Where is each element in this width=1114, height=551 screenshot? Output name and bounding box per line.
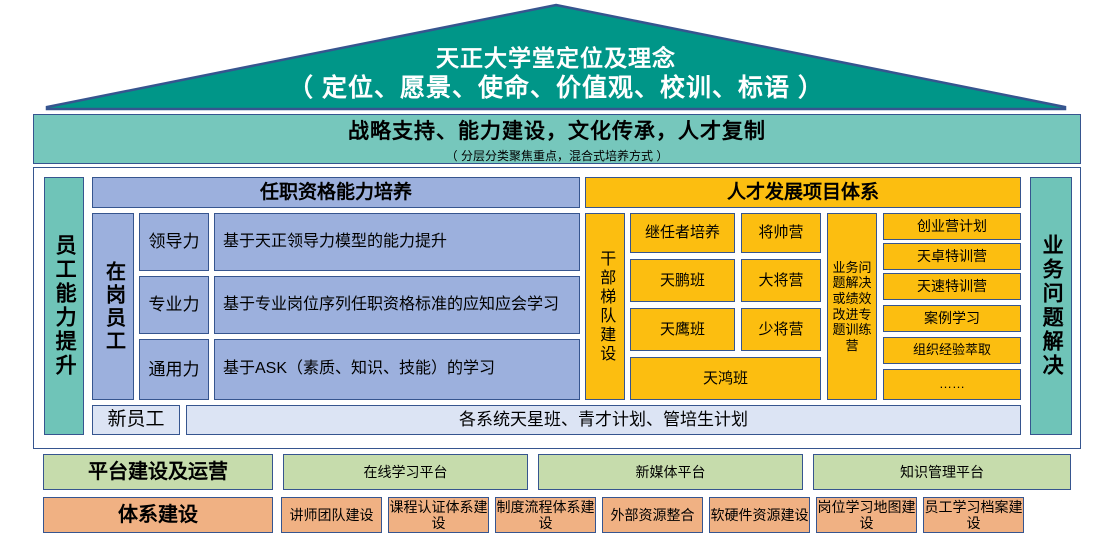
ability-desc-professional: 基于专业岗位序列任职资格标准的应知应会学习 <box>214 276 580 334</box>
system-item-job-learning-map: 岗位学习地图建设 <box>816 497 917 533</box>
left-column-employee-capability: 员工能力提升 <box>44 177 84 435</box>
cadre-item-tianhong: 天鸿班 <box>630 357 821 400</box>
onboard-employee-label: 在岗员工 <box>92 213 134 400</box>
platform-item-knowledge-management: 知识管理平台 <box>813 454 1071 490</box>
business-item-startup-camp: 创业营计划 <box>883 213 1021 240</box>
system-row: 体系建设 讲师团队建设 课程认证体系建设 制度流程体系建设 外部资源整合 软硬件… <box>33 497 1081 533</box>
platform-item-new-media: 新媒体平台 <box>538 454 803 490</box>
cadre-item-jiangshuai-camp: 将帅营 <box>741 213 821 253</box>
business-item-tiansu-camp: 天速特训营 <box>883 273 1021 300</box>
main-body-panel: 员工能力提升 业务问题解决 任职资格能力培养 在岗员工 领导力 基于天正领导力模… <box>33 167 1081 449</box>
cadre-item-dajiang-camp: 大将营 <box>741 259 821 302</box>
right-column-business-problem: 业务问题解决 <box>1030 177 1072 435</box>
talent-program-title: 人才发展项目体系 <box>585 177 1021 208</box>
system-item-instructor-team: 讲师团队建设 <box>281 497 382 533</box>
cadre-echelon-label: 干部梯队建设 <box>585 213 625 400</box>
strategy-band: 战略支持、能力建设，文化传承，人才复制 （ 分层分类聚焦重点，混合式培养方式 ） <box>33 114 1081 164</box>
business-item-ellipsis: …… <box>883 369 1021 400</box>
system-item-process-system: 制度流程体系建设 <box>495 497 596 533</box>
ability-label-general: 通用力 <box>139 339 209 400</box>
new-employee-label: 新员工 <box>92 405 180 435</box>
cadre-item-shaojiang-camp: 少将营 <box>741 308 821 351</box>
org-training-framework-diagram: 天正大学堂定位及理念 （ 定位、愿景、使命、价值观、校训、标语 ） 战略支持、能… <box>0 0 1114 551</box>
strategy-sub-text: （ 分层分类聚焦重点，混合式培养方式 ） <box>446 147 669 164</box>
business-item-case-study: 案例学习 <box>883 305 1021 332</box>
system-item-employee-learning-record: 员工学习档案建设 <box>923 497 1024 533</box>
business-problem-camp-label: 业务问题解决或绩效改进专题训练营 <box>827 213 877 400</box>
qualification-title: 任职资格能力培养 <box>92 177 580 208</box>
strategy-main-text: 战略支持、能力建设，文化传承，人才复制 <box>348 115 766 145</box>
system-item-external-resources: 外部资源整合 <box>602 497 703 533</box>
cadre-item-tianpeng: 天鹏班 <box>630 259 735 302</box>
ability-label-professional: 专业力 <box>139 276 209 334</box>
platform-item-online-learning: 在线学习平台 <box>283 454 528 490</box>
system-item-course-certification: 课程认证体系建设 <box>388 497 489 533</box>
business-item-experience-extraction: 组织经验萃取 <box>883 337 1021 364</box>
ability-label-leadership: 领导力 <box>139 213 209 271</box>
roof-shape: 天正大学堂定位及理念 （ 定位、愿景、使命、价值观、校训、标语 ） <box>44 2 1068 112</box>
platform-row-title: 平台建设及运营 <box>43 454 273 490</box>
ability-desc-leadership: 基于天正领导力模型的能力提升 <box>214 213 580 271</box>
new-employee-desc: 各系统天星班、青才计划、管培生计划 <box>186 405 1021 435</box>
business-item-tianzhuo-camp: 天卓特训营 <box>883 243 1021 270</box>
ability-desc-general: 基于ASK（素质、知识、技能）的学习 <box>214 339 580 400</box>
cadre-item-tianying: 天鹰班 <box>630 308 735 351</box>
roof-polygon-icon <box>44 2 1068 112</box>
platform-row: 平台建设及运营 在线学习平台 新媒体平台 知识管理平台 <box>33 454 1081 490</box>
system-row-title: 体系建设 <box>43 497 273 533</box>
cadre-item-successor: 继任者培养 <box>630 213 735 253</box>
system-item-hardware-software: 软硬件资源建设 <box>709 497 810 533</box>
